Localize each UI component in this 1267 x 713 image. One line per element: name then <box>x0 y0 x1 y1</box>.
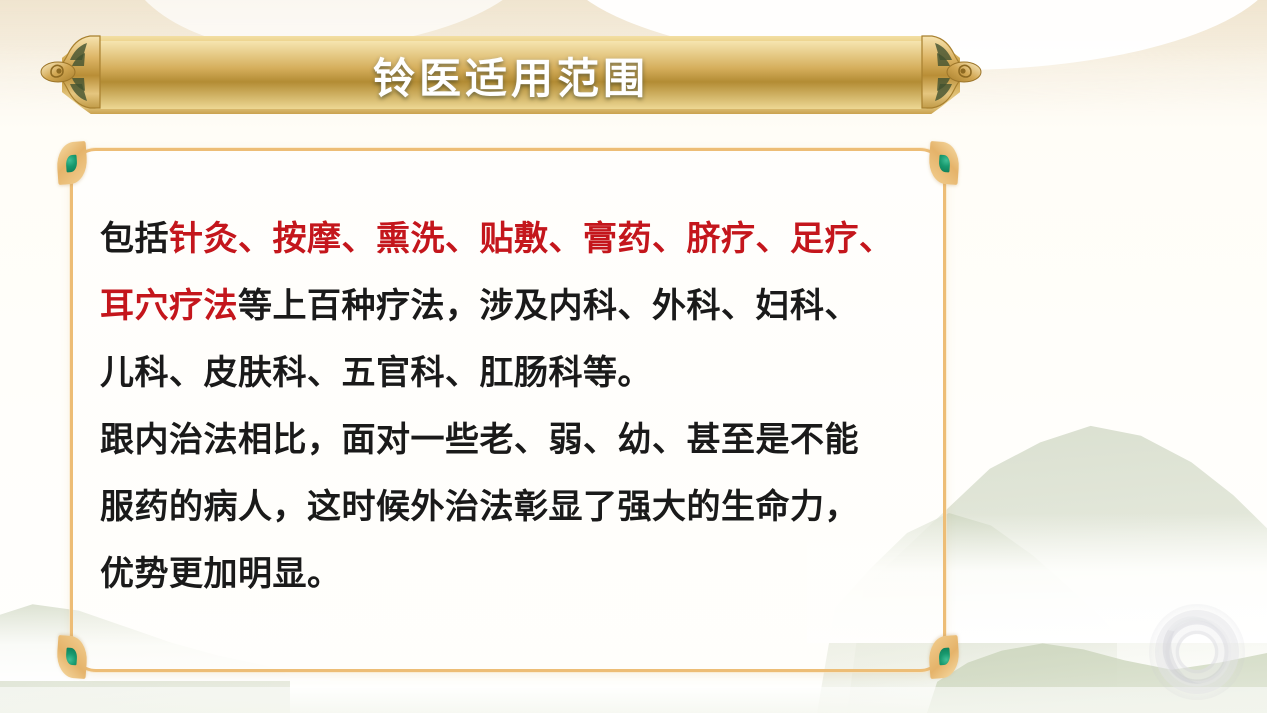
content-card: 包括针灸、按摩、熏洗、贴敷、膏药、脐疗、足疗、耳穴疗法等上百种疗法，涉及内科、外… <box>70 148 946 672</box>
text-run: 等上百种疗法，涉及内科、外科、妇科、 <box>238 287 859 325</box>
text-line: 包括针灸、按摩、熏洗、贴敷、膏药、脐疗、足疗、 <box>100 206 920 273</box>
text-run: 优势更加明显。 <box>100 555 342 593</box>
text-run: 儿科、皮肤科、五官科、肛肠科等。 <box>100 354 652 392</box>
corner-gem-bottom-right-icon <box>928 635 961 679</box>
background-bottom-strip <box>0 687 1267 713</box>
text-run: 服药的病人，这时候外治法彰显了强大的生命力， <box>100 488 859 526</box>
highlighted-term: 针灸、按摩、熏洗、贴敷、膏药、脐疗、足疗、 <box>169 220 894 258</box>
corner-gem-top-right-icon <box>928 141 961 185</box>
paragraph-2: 跟内治法相比，面对一些老、弱、幼、甚至是不能服药的病人，这时候外治法彰显了强大的… <box>100 407 920 608</box>
corner-gem-top-left-icon <box>56 141 89 185</box>
title-banner: 铃医适用范围 <box>62 36 960 114</box>
jade-disc-watermark-icon <box>1149 604 1245 700</box>
text-run: 跟内治法相比，面对一些老、弱、幼、甚至是不能 <box>100 421 859 459</box>
corner-gem-bottom-left-icon <box>56 635 89 679</box>
text-line: 优势更加明显。 <box>100 541 920 608</box>
text-line: 耳穴疗法等上百种疗法，涉及内科、外科、妇科、 <box>100 273 920 340</box>
text-line: 服药的病人，这时候外治法彰显了强大的生命力， <box>100 474 920 541</box>
highlighted-term: 耳穴疗法 <box>100 287 238 325</box>
page-title: 铃医适用范围 <box>62 36 960 114</box>
text-line: 儿科、皮肤科、五官科、肛肠科等。 <box>100 340 920 407</box>
paragraph-1: 包括针灸、按摩、熏洗、贴敷、膏药、脐疗、足疗、耳穴疗法等上百种疗法，涉及内科、外… <box>100 206 920 407</box>
content-body: 包括针灸、按摩、熏洗、贴敷、膏药、脐疗、足疗、耳穴疗法等上百种疗法，涉及内科、外… <box>100 206 920 608</box>
slide-root: 铃医适用范围 包括针灸、按摩、熏洗、贴敷、膏药、脐疗、足疗、耳穴疗法等上百种疗法… <box>0 0 1267 713</box>
text-line: 跟内治法相比，面对一些老、弱、幼、甚至是不能 <box>100 407 920 474</box>
text-run: 包括 <box>100 220 169 258</box>
